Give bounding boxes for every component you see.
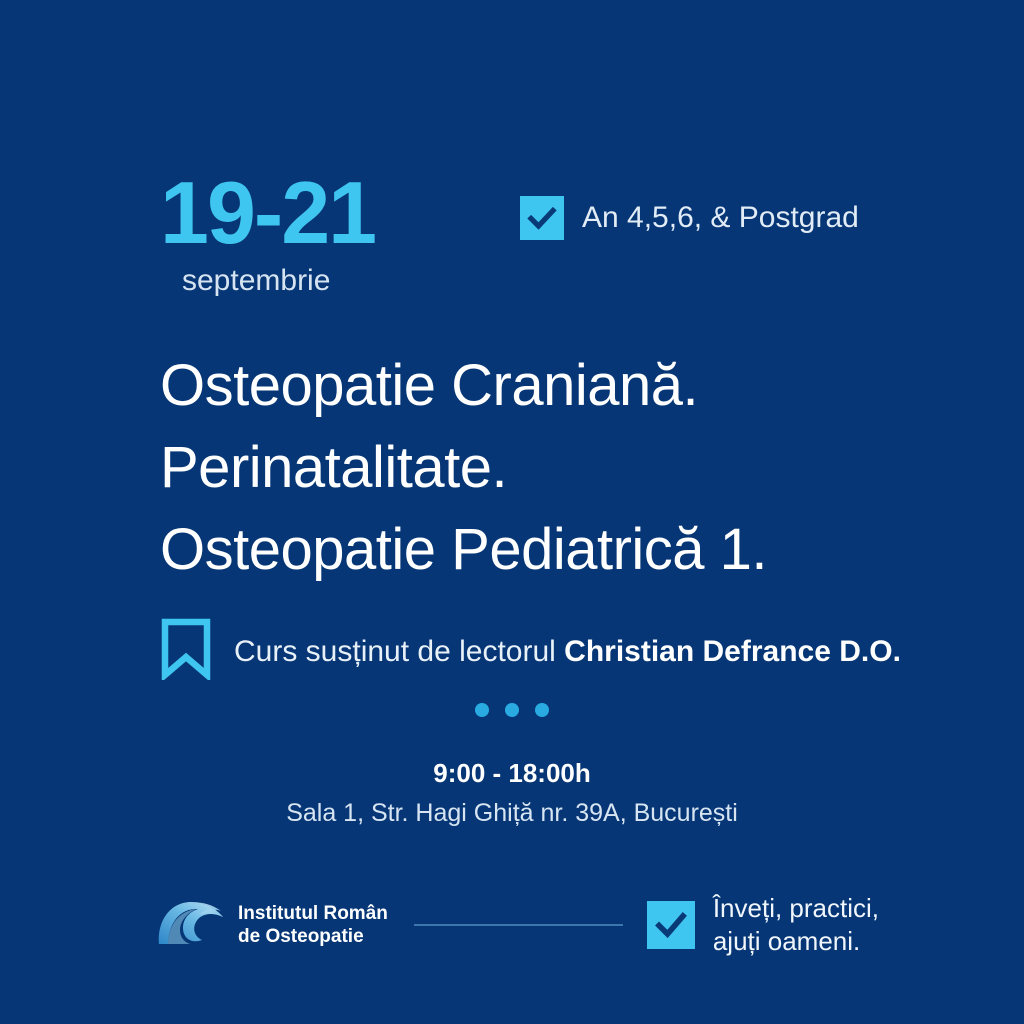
lecturer-name: Christian Defrance D.O. xyxy=(564,635,901,668)
footer: Institutul Român de Osteopatie Înveți, p… xyxy=(155,890,879,960)
date-range: 19-21 xyxy=(160,168,375,258)
separator-dot xyxy=(535,703,549,717)
separator-dot xyxy=(505,703,519,717)
audience-badge: An 4,5,6, & Postgrad xyxy=(520,196,859,240)
page-title: Osteopatie Craniană. Perinatalitate. Ost… xyxy=(160,345,960,591)
audience-label: An 4,5,6, & Postgrad xyxy=(582,201,859,235)
event-venue: Sala 1, Str. Hagi Ghiță nr. 39A, Bucureș… xyxy=(0,796,1024,830)
event-meta: 9:00 - 18:00h Sala 1, Str. Hagi Ghiță nr… xyxy=(0,756,1024,830)
event-time: 9:00 - 18:00h xyxy=(0,756,1024,790)
check-icon xyxy=(520,196,564,240)
slogan-line-2: ajuți oameni. xyxy=(713,925,879,958)
date-block: 19-21 septembrie xyxy=(160,168,375,298)
slogan-text: Înveți, practici, ajuți oameni. xyxy=(713,892,879,958)
title-line-1: Osteopatie Craniană. xyxy=(160,345,960,427)
dot-separator xyxy=(0,703,1024,717)
lecturer-row: Curs susținut de lectorul Christian Defr… xyxy=(160,618,901,685)
slogan-block: Înveți, practici, ajuți oameni. xyxy=(647,892,879,958)
title-line-2: Perinatalitate. xyxy=(160,427,960,509)
brand-name-line-2: de Osteopatie xyxy=(238,925,388,948)
brand-name: Institutul Român de Osteopatie xyxy=(238,902,388,948)
date-row: 19-21 septembrie An 4,5,6, & Postgrad xyxy=(160,168,920,308)
footer-divider xyxy=(414,924,623,926)
title-line-3: Osteopatie Pediatrică 1. xyxy=(160,509,960,591)
bookmark-icon xyxy=(160,618,212,685)
slogan-line-1: Înveți, practici, xyxy=(713,892,879,925)
check-icon xyxy=(647,901,695,949)
separator-dot xyxy=(475,703,489,717)
lecturer-prefix: Curs susținut de lectorul xyxy=(234,635,564,668)
brand-lockup: Institutul Român de Osteopatie xyxy=(155,894,388,957)
lecturer-text: Curs susținut de lectorul Christian Defr… xyxy=(234,635,901,669)
date-month: septembrie xyxy=(182,264,375,298)
event-poster: 19-21 septembrie An 4,5,6, & Postgrad Os… xyxy=(0,0,1024,1024)
brand-name-line-1: Institutul Român xyxy=(238,902,388,925)
wave-logo-icon xyxy=(155,894,227,957)
